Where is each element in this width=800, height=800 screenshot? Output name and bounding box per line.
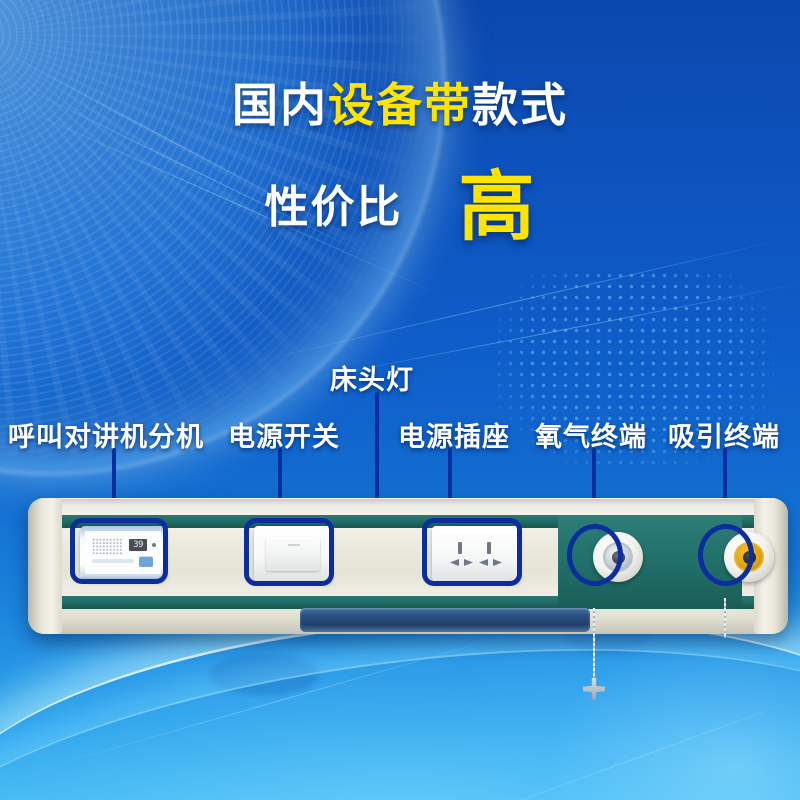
callout-label-bed-lamp: 床头灯 [330,358,414,397]
highlight-oxygen [567,524,623,586]
highlight-intercom [70,518,168,584]
suction-pull-chain[interactable] [724,598,726,638]
callout-label-socket: 电源插座 [398,415,510,454]
oxygen-pull-chain[interactable] [593,608,595,686]
bed-lamp-strip[interactable] [300,608,590,632]
subheadline-highlight: 高 [459,165,536,250]
headline-highlight: 设备带 [328,79,472,131]
callout-label-intercom: 呼叫对讲机分机 [8,415,204,454]
headline-block: 国内设备带款式 性价比高 [0,82,800,128]
headline-line-1: 国内设备带款式 [0,82,800,128]
headline-text-b: 款式 [472,79,568,131]
highlight-switch [244,518,334,586]
headline-line-2: 性价比高 [0,170,800,246]
promo-banner: 国内设备带款式 性价比高 呼叫对讲机分机 电源开关 床头灯 电源插座 氧气终端 … [0,0,800,800]
subheadline-text: 性价比 [265,183,403,232]
highlight-suction [698,524,754,586]
highlight-socket [422,518,522,586]
callout-label-oxygen: 氧气终端 [535,415,647,454]
callout-label-switch: 电源开关 [228,415,340,454]
headline-text-a: 国内 [232,79,328,131]
panel-end-cap-left [28,498,62,634]
